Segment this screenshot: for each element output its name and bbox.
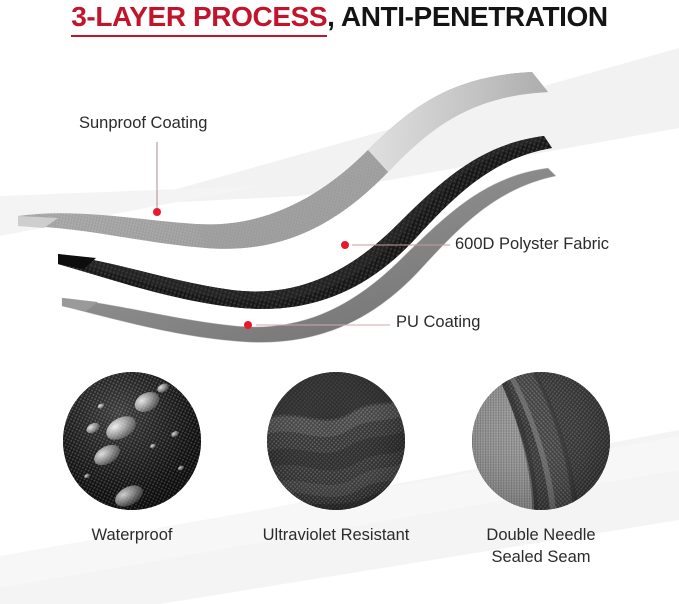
feature-caption-line2: Sealed Seam	[451, 546, 631, 568]
product-feature-infographic: 3-LAYER PROCESS, ANTI-PENETRATION	[0, 0, 679, 604]
feature-caption-line1: Waterproof	[42, 524, 222, 546]
callout-label-600d-polyster-fabric: 600D Polyster Fabric	[455, 235, 609, 254]
marker-pu	[244, 321, 252, 329]
feature-image-waterproof	[63, 372, 201, 510]
callout-label-pu-coating: PU Coating	[396, 313, 480, 332]
feature-double-needle-sealed-seam: Double Needle Sealed Seam	[451, 372, 631, 568]
three-layer-fabric-diagram	[0, 58, 679, 358]
layer-sunproof-coating	[18, 72, 548, 249]
feature-caption-line1: Ultraviolet Resistant	[246, 524, 426, 546]
feature-circles-row: Waterproof	[0, 372, 679, 604]
feature-image-ultraviolet-resistant	[267, 372, 405, 510]
marker-fabric	[341, 241, 349, 249]
marker-sunproof	[153, 208, 161, 216]
feature-caption-line1: Double Needle	[451, 524, 631, 546]
feature-waterproof: Waterproof	[42, 372, 222, 546]
feature-caption-double-needle-sealed-seam: Double Needle Sealed Seam	[451, 524, 631, 568]
headline-rest: ANTI-PENETRATION	[341, 1, 608, 32]
headline-highlight: 3-LAYER PROCESS	[71, 1, 327, 37]
headline: 3-LAYER PROCESS, ANTI-PENETRATION	[0, 0, 679, 48]
feature-image-double-needle-sealed-seam	[472, 372, 610, 510]
layer-pu-coating	[62, 168, 556, 342]
feature-caption-ultraviolet-resistant: Ultraviolet Resistant	[246, 524, 426, 546]
headline-separator: ,	[327, 1, 334, 32]
feature-caption-waterproof: Waterproof	[42, 524, 222, 546]
callout-label-sunproof: Sunproof Coating	[79, 114, 207, 133]
feature-ultraviolet-resistant: Ultraviolet Resistant	[246, 372, 426, 546]
